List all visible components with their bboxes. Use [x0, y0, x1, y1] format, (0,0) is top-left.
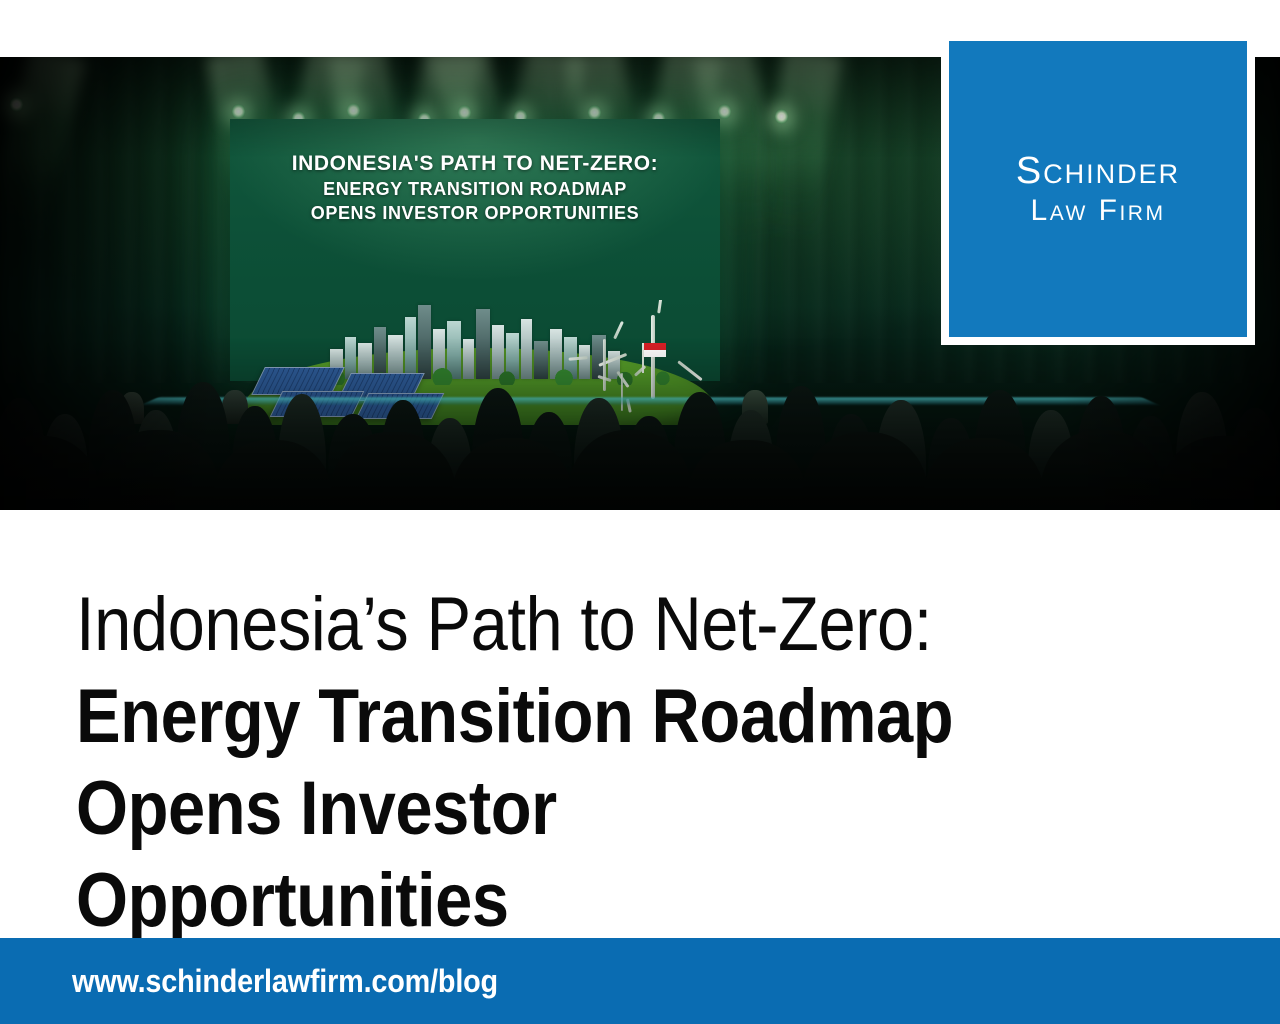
footer-bar: www.schinderlawfirm.com/blog [0, 938, 1280, 1024]
blog-url-link[interactable]: www.schinderlawfirm.com/blog [72, 963, 498, 1000]
stage-lamp-icon [232, 104, 245, 119]
stage-lamp-icon [588, 105, 601, 120]
logo-wordmark-secondary: Law Firm [1031, 196, 1166, 226]
presentation-screen-title: INDONESIA'S PATH TO NET-ZERO: ENERGY TRA… [230, 151, 720, 225]
logo-wordmark-primary: Schinder [1016, 152, 1180, 190]
schinder-law-firm-logo: Schinder Law Firm [949, 41, 1247, 337]
stage-lamp-icon [718, 104, 731, 119]
stage-lamp-icon [10, 97, 23, 112]
stage-lamp-icon [458, 105, 471, 120]
stage-lamp-icon [347, 103, 360, 118]
headline-lead: Indonesia’s Path to Net-Zero: [76, 582, 932, 667]
screen-title-line-3: OPENS INVESTOR OPPORTUNITIES [230, 201, 720, 225]
stage-lamp-icon [775, 109, 788, 124]
logo-badge[interactable]: Schinder Law Firm [941, 33, 1255, 345]
screen-title-line-1: INDONESIA'S PATH TO NET-ZERO: [230, 151, 720, 177]
screen-title-line-2: ENERGY TRANSITION ROADMAP [230, 177, 720, 201]
headline-emphasis: Energy Transition Roadmap Opens Investor… [76, 674, 953, 943]
page-title: Indonesia’s Path to Net-Zero: Energy Tra… [76, 579, 1000, 947]
